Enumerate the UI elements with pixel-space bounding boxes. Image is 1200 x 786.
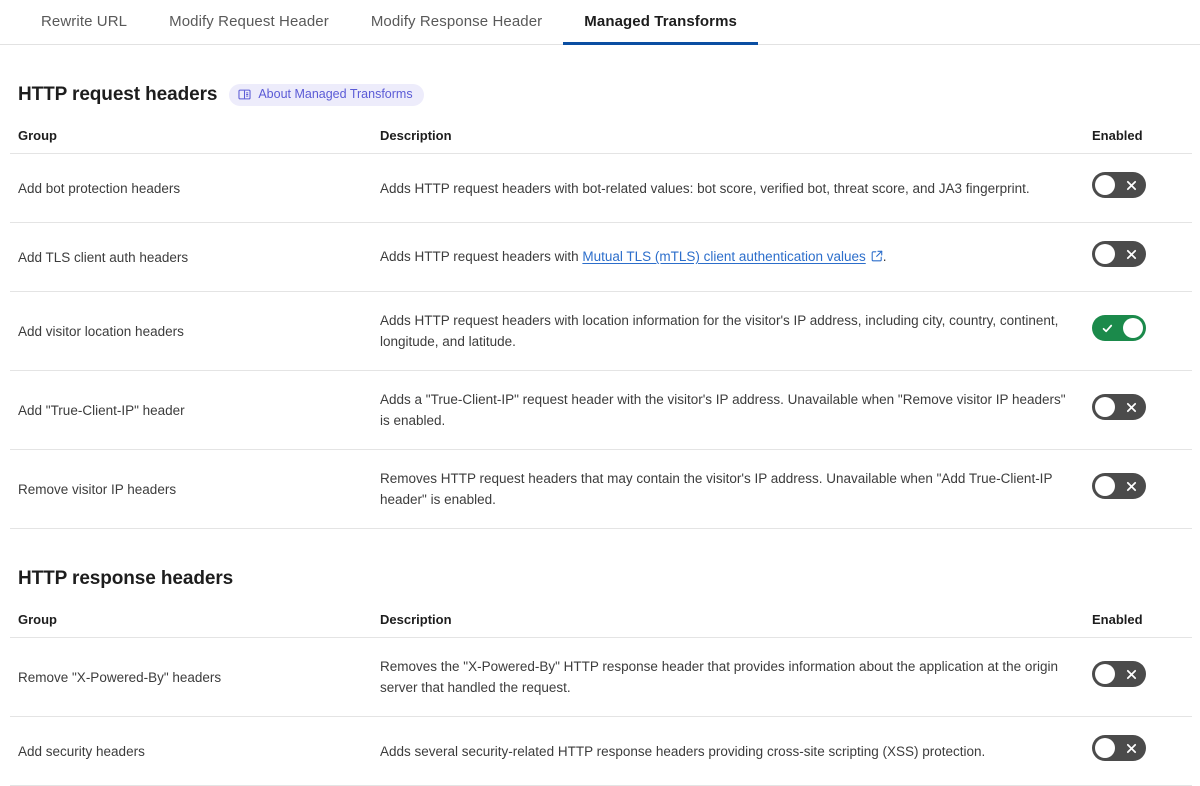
column-header-description: Description [372,605,1084,638]
enabled-toggle[interactable] [1092,241,1146,267]
table-row: Add bot protection headers Adds HTTP req… [10,154,1192,223]
table-row: Remove "X-Powered-By" headers Removes th… [10,638,1192,717]
spacer [10,107,1190,121]
spacer [10,591,1190,605]
close-icon [1118,735,1144,761]
row-group-label: Add "True-Client-IP" header [10,371,372,450]
request-section-title: HTTP request headers [18,83,217,107]
about-badge-label: About Managed Transforms [258,87,412,102]
close-icon [1118,172,1144,198]
mtls-documentation-link[interactable]: Mutual TLS (mTLS) client authentication … [582,249,865,264]
column-header-description: Description [372,121,1084,154]
enabled-toggle[interactable] [1092,315,1146,341]
close-icon [1118,473,1144,499]
row-enabled-cell [1084,223,1192,292]
toggle-knob [1095,244,1115,264]
close-icon [1118,661,1144,687]
row-description: Adds HTTP request headers with Mutual TL… [372,223,1084,292]
row-enabled-cell [1084,292,1192,371]
toggle-knob [1095,664,1115,684]
response-headers-table: Group Description Enabled Remove "X-Powe… [10,605,1192,786]
row-enabled-cell [1084,371,1192,450]
toggle-knob [1095,476,1115,496]
response-section-title: HTTP response headers [18,567,233,591]
toggle-knob [1095,738,1115,758]
request-headers-table: Group Description Enabled Add bot protec… [10,121,1192,529]
toggle-knob [1095,397,1115,417]
table-header-row: Group Description Enabled [10,121,1192,154]
close-icon [1118,241,1144,267]
column-header-enabled: Enabled [1084,121,1192,154]
table-row: Add security headers Adds several securi… [10,717,1192,786]
row-description: Adds HTTP request headers with bot-relat… [372,154,1084,223]
tab-bar: Rewrite URL Modify Request Header Modify… [0,0,1200,45]
tab-modify-request-header[interactable]: Modify Request Header [148,0,350,44]
enabled-toggle[interactable] [1092,172,1146,198]
spacer [0,529,1200,567]
row-enabled-cell [1084,717,1192,786]
row-enabled-cell [1084,154,1192,223]
enabled-toggle[interactable] [1092,735,1146,761]
spacer [0,45,1200,83]
request-section-header: HTTP request headers About Managed Trans… [10,83,1190,107]
book-icon [238,88,251,101]
column-header-group: Group [10,121,372,154]
about-managed-transforms-badge[interactable]: About Managed Transforms [229,84,423,106]
close-icon [1118,394,1144,420]
table-row: Remove visitor IP headers Removes HTTP r… [10,450,1192,529]
check-icon [1094,315,1120,341]
row-enabled-cell [1084,638,1192,717]
toggle-knob [1095,175,1115,195]
tab-managed-transforms[interactable]: Managed Transforms [563,0,758,44]
description-suffix: . [883,249,887,264]
row-enabled-cell [1084,450,1192,529]
row-description: Removes the "X-Powered-By" HTTP response… [372,638,1084,717]
enabled-toggle[interactable] [1092,394,1146,420]
toggle-knob [1123,318,1143,338]
row-group-label: Add TLS client auth headers [10,223,372,292]
response-section-header: HTTP response headers [10,567,1190,591]
table-header-row: Group Description Enabled [10,605,1192,638]
table-row: Add "True-Client-IP" header Adds a "True… [10,371,1192,450]
tab-modify-response-header[interactable]: Modify Response Header [350,0,563,44]
row-description: Adds HTTP request headers with location … [372,292,1084,371]
row-description: Adds a "True-Client-IP" request header w… [372,371,1084,450]
column-header-enabled: Enabled [1084,605,1192,638]
row-group-label: Add bot protection headers [10,154,372,223]
tab-rewrite-url[interactable]: Rewrite URL [20,0,148,44]
http-request-headers-section: HTTP request headers About Managed Trans… [0,83,1200,529]
http-response-headers-section: HTTP response headers Group Description … [0,567,1200,786]
row-group-label: Remove visitor IP headers [10,450,372,529]
enabled-toggle[interactable] [1092,661,1146,687]
row-group-label: Add security headers [10,717,372,786]
table-row: Add visitor location headers Adds HTTP r… [10,292,1192,371]
row-group-label: Remove "X-Powered-By" headers [10,638,372,717]
table-row: Add TLS client auth headers Adds HTTP re… [10,223,1192,292]
row-description: Removes HTTP request headers that may co… [372,450,1084,529]
enabled-toggle[interactable] [1092,473,1146,499]
column-header-group: Group [10,605,372,638]
description-prefix: Adds HTTP request headers with [380,249,582,264]
row-group-label: Add visitor location headers [10,292,372,371]
external-link-icon[interactable] [871,247,883,268]
row-description: Adds several security-related HTTP respo… [372,717,1084,786]
